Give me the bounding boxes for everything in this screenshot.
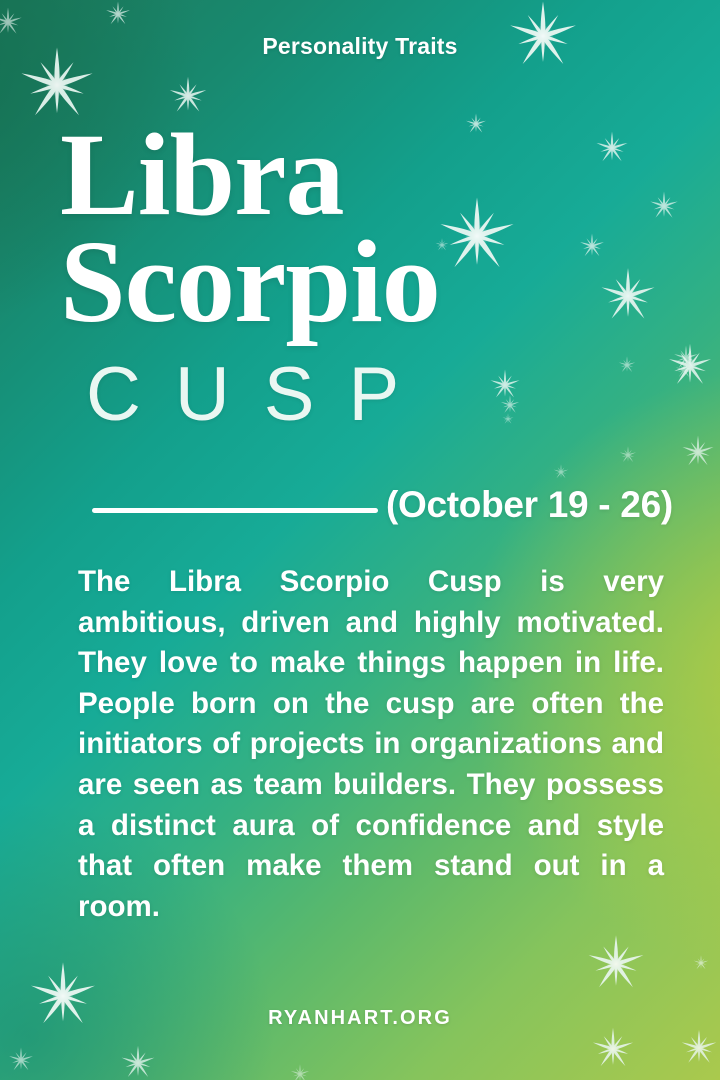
title-block: Libra Scorpio [60, 118, 680, 339]
description-paragraph: The Libra Scorpio Cusp is very ambitious… [78, 562, 664, 968]
poster-content: Personality Traits Libra Scorpio CUSP (O… [0, 0, 720, 1080]
eyebrow-label: Personality Traits [0, 33, 720, 60]
divider-rule [92, 508, 378, 513]
page-title-line-1: Libra [60, 118, 680, 231]
date-row: (October 19 - 26) [0, 484, 720, 530]
subtitle-cusp: CUSP [86, 357, 433, 433]
date-range-label: (October 19 - 26) [386, 484, 673, 526]
zodiac-poster: Personality Traits Libra Scorpio CUSP (O… [0, 0, 720, 1080]
footer-website-label: RYANHART.ORG [0, 1007, 720, 1030]
page-title-line-2: Scorpio [60, 225, 680, 338]
